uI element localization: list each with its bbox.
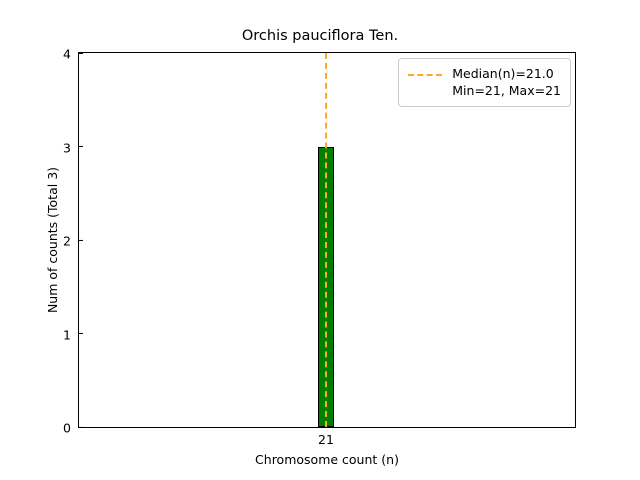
plot-area: 0 1 2 3 4 21	[78, 52, 576, 428]
legend-line-1: Median(n)=21.0	[452, 66, 553, 81]
y-axis-tick-label: 3	[63, 142, 79, 155]
y-axis-tick: 0	[63, 418, 79, 437]
dashed-line-icon	[408, 68, 442, 81]
y-axis-tick-mark	[79, 239, 83, 240]
y-axis-tick-label: 1	[63, 329, 79, 342]
y-axis-tick: 2	[63, 231, 79, 250]
legend-item: Median(n)=21.0 Min=21, Max=21	[408, 65, 561, 99]
y-axis-tick: 1	[63, 324, 79, 343]
legend: Median(n)=21.0 Min=21, Max=21	[398, 58, 571, 107]
y-axis-tick: 3	[63, 137, 79, 156]
y-axis-tick: 4	[63, 44, 79, 63]
chart-figure: Orchis pauciflora Ten. 0 1 2 3 4 21	[0, 0, 640, 480]
page-title: Orchis pauciflora Ten.	[0, 27, 640, 45]
y-axis-tick-mark	[79, 146, 83, 147]
y-axis-label: Num of counts (Total 3)	[42, 52, 64, 428]
legend-item-label: Median(n)=21.0 Min=21, Max=21	[452, 65, 561, 99]
x-axis-label: Chromosome count (n)	[78, 453, 576, 467]
y-axis-tick-label: 0	[63, 423, 79, 436]
y-axis-tick-label: 2	[63, 236, 79, 249]
y-axis-tick-label: 4	[63, 49, 79, 62]
x-axis-tick: 21	[318, 427, 334, 448]
y-axis-tick-mark	[79, 52, 83, 53]
y-axis-tick-mark	[79, 426, 83, 427]
x-axis-tick-label: 21	[318, 427, 334, 446]
legend-line-2: Min=21, Max=21	[452, 83, 561, 98]
median-line	[325, 53, 327, 427]
y-axis-tick-mark	[79, 333, 83, 334]
